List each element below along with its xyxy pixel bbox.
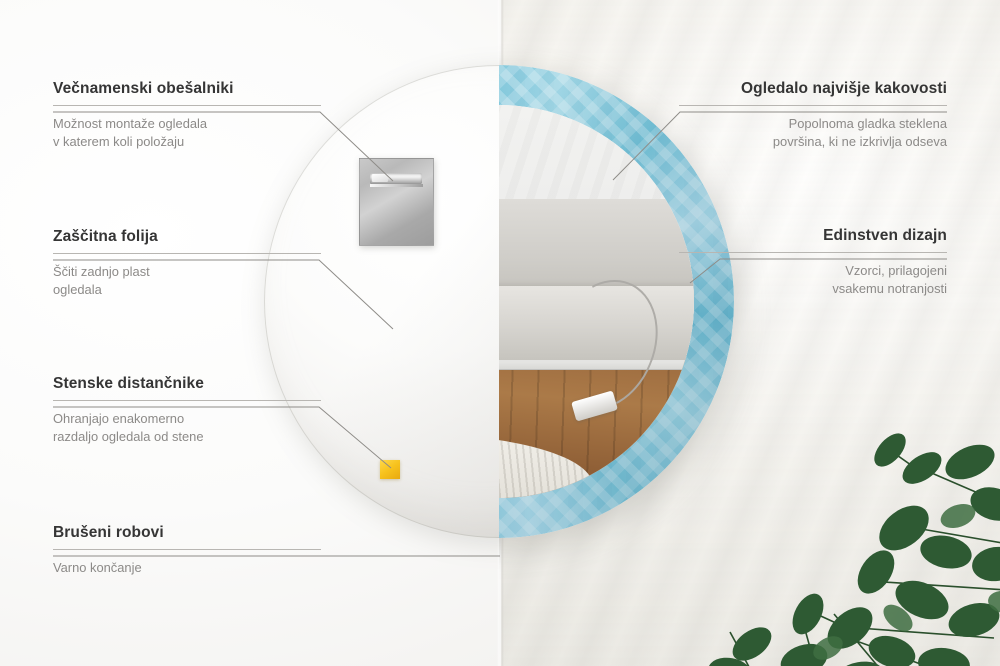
callout-hangers-rule (53, 105, 321, 106)
callout-hangers: Večnamenski obešalniki Možnost montaže o… (53, 80, 321, 150)
callout-wall-spacers-rule (53, 400, 321, 401)
callout-wall-spacers: Stenske distančnike Ohranjajo enakomerno… (53, 375, 321, 445)
callout-protective-film-title: Zaščitna folija (53, 228, 321, 246)
callout-hangers-body: Možnost montaže ogledala v katerem koli … (53, 115, 321, 150)
infographic-canvas: Večnamenski obešalniki Možnost montaže o… (0, 0, 1000, 666)
callout-polished-edges-body: Varno končanje (53, 559, 321, 577)
callout-unique-design-body: Vzorci, prilagojeni vsakemu notranjosti (679, 262, 947, 297)
callout-top-quality-mirror-body: Popolnoma gladka steklena površina, ki n… (679, 115, 947, 150)
callout-top-quality-mirror-title: Ogledalo najvišje kakovosti (679, 80, 947, 98)
hanger-slot (370, 173, 422, 184)
plant-foliage (708, 376, 1000, 666)
callout-top-quality-mirror-rule (679, 105, 947, 106)
hanger-bar (370, 184, 423, 187)
hanger-plate-icon (359, 158, 434, 246)
callout-wall-spacers-body: Ohranjajo enakomerno razdaljo ogledala o… (53, 410, 321, 445)
callout-top-quality-mirror: Ogledalo najvišje kakovosti Popolnoma gl… (679, 80, 947, 150)
callout-polished-edges-rule (53, 549, 321, 550)
spacer-block-icon (380, 460, 400, 479)
callout-polished-edges: Brušeni robovi Varno končanje (53, 524, 321, 577)
callout-wall-spacers-title: Stenske distančnike (53, 375, 321, 393)
callout-protective-film-body: Ščiti zadnjo plast ogledala (53, 263, 321, 298)
callout-unique-design-title: Edinstven dizajn (679, 227, 947, 245)
callout-unique-design-rule (679, 252, 947, 253)
callout-hangers-title: Večnamenski obešalniki (53, 80, 321, 98)
callout-polished-edges-title: Brušeni robovi (53, 524, 321, 542)
callout-protective-film: Zaščitna folija Ščiti zadnjo plast ogled… (53, 228, 321, 298)
callout-unique-design: Edinstven dizajn Vzorci, prilagojeni vsa… (679, 227, 947, 297)
callout-protective-film-rule (53, 253, 321, 254)
mirror-glass (499, 105, 694, 498)
